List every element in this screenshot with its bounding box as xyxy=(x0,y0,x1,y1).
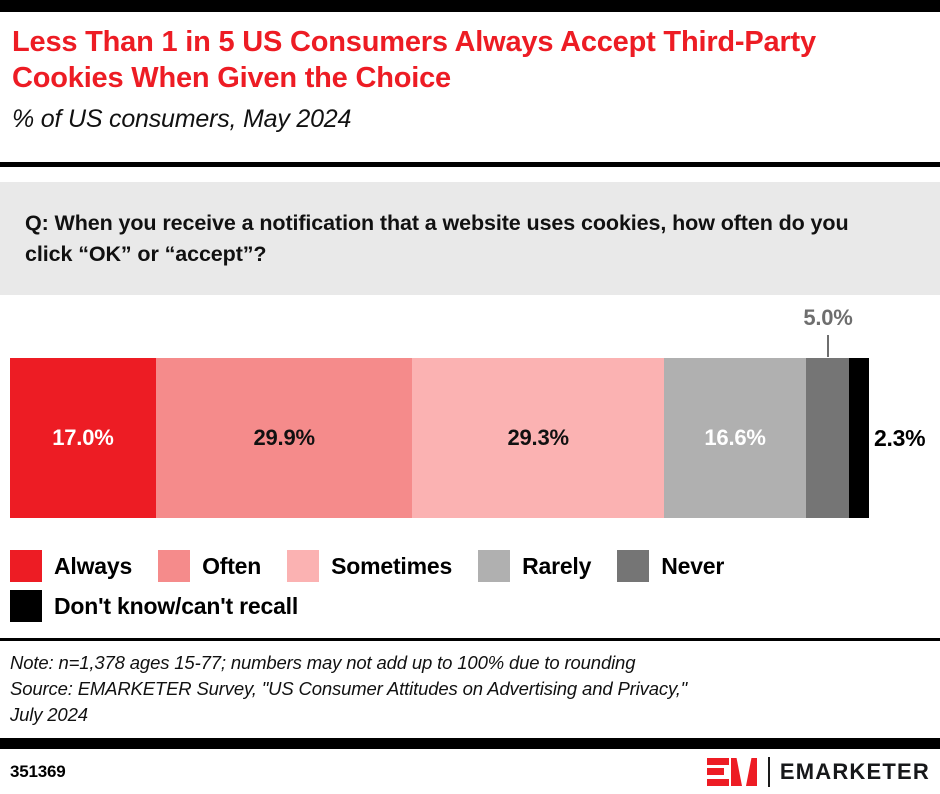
chart-id: 351369 xyxy=(10,762,66,782)
bar-segment-rarely[interactable]: 16.6% xyxy=(664,358,806,518)
bar-segment-sometimes[interactable]: 29.3% xyxy=(412,358,663,518)
legend-item-always[interactable]: Always xyxy=(10,550,132,582)
legend-swatch-rarely xyxy=(478,550,510,582)
bar-segment-never[interactable] xyxy=(806,358,849,518)
chart-notes: Note: n=1,378 ages 15-77; numbers may no… xyxy=(10,650,930,728)
question-band: Q: When you receive a notification that … xyxy=(0,182,940,295)
legend-label-never: Never xyxy=(661,553,724,580)
notes-divider xyxy=(0,638,940,641)
legend-swatch-dont-know xyxy=(10,590,42,622)
emarketer-logo: EMARKETER xyxy=(707,757,930,787)
em-letter-m-icon xyxy=(731,758,757,786)
callout-leader-line xyxy=(827,335,829,357)
stacked-bar-chart: 5.0% 17.0% 29.9% 29.3% 16.6% 2.3% xyxy=(0,295,940,540)
chart-header: Less Than 1 in 5 US Consumers Always Acc… xyxy=(0,12,940,134)
dont-know-outside-label: 2.3% xyxy=(874,425,925,452)
legend-item-sometimes[interactable]: Sometimes xyxy=(287,550,452,582)
bar-track: 17.0% 29.9% 29.3% 16.6% xyxy=(10,358,869,518)
footer-rule xyxy=(0,738,940,749)
bar-segment-always[interactable]: 17.0% xyxy=(10,358,156,518)
bar-segment-always-label: 17.0% xyxy=(52,425,113,451)
legend-swatch-often xyxy=(158,550,190,582)
page-subtitle: % of US consumers, May 2024 xyxy=(12,104,928,134)
source-line-continued: July 2024 xyxy=(10,702,930,728)
legend-swatch-sometimes xyxy=(287,550,319,582)
em-monogram-icon xyxy=(707,758,757,786)
legend-label-rarely: Rarely xyxy=(522,553,591,580)
bar-segment-dont-know[interactable] xyxy=(849,358,869,518)
chart-footer: 351369 EMARKETER xyxy=(0,749,940,794)
legend-row-1: Always Often Sometimes Rarely Never xyxy=(10,546,930,586)
question-text: Q: When you receive a notification that … xyxy=(0,208,940,269)
bar-segment-often[interactable]: 29.9% xyxy=(156,358,413,518)
chart-legend: Always Often Sometimes Rarely Never xyxy=(10,546,930,626)
legend-swatch-always xyxy=(10,550,42,582)
never-callout-label: 5.0% xyxy=(797,307,859,329)
em-letter-e-icon xyxy=(707,758,729,786)
bar-segment-sometimes-label: 29.3% xyxy=(507,425,568,451)
note-line: Note: n=1,378 ages 15-77; numbers may no… xyxy=(10,650,930,676)
bar-segment-often-label: 29.9% xyxy=(253,425,314,451)
legend-item-often[interactable]: Often xyxy=(158,550,261,582)
legend-label-often: Often xyxy=(202,553,261,580)
logo-divider xyxy=(768,757,770,787)
legend-label-sometimes: Sometimes xyxy=(331,553,452,580)
brand-wordmark: EMARKETER xyxy=(780,759,930,785)
legend-label-always: Always xyxy=(54,553,132,580)
legend-label-dont-know: Don't know/can't recall xyxy=(54,593,298,620)
chart-page: Less Than 1 in 5 US Consumers Always Acc… xyxy=(0,0,940,794)
legend-swatch-never xyxy=(617,550,649,582)
page-title: Less Than 1 in 5 US Consumers Always Acc… xyxy=(12,24,928,97)
header-divider xyxy=(0,162,940,167)
legend-item-dont-know[interactable]: Don't know/can't recall xyxy=(10,590,298,622)
top-rule xyxy=(0,0,940,12)
bar-segment-rarely-label: 16.6% xyxy=(704,425,765,451)
legend-row-2: Don't know/can't recall xyxy=(10,586,930,626)
legend-item-rarely[interactable]: Rarely xyxy=(478,550,591,582)
legend-item-never[interactable]: Never xyxy=(617,550,724,582)
source-line: Source: EMARKETER Survey, "US Consumer A… xyxy=(10,676,930,702)
never-callout: 5.0% xyxy=(797,307,859,329)
